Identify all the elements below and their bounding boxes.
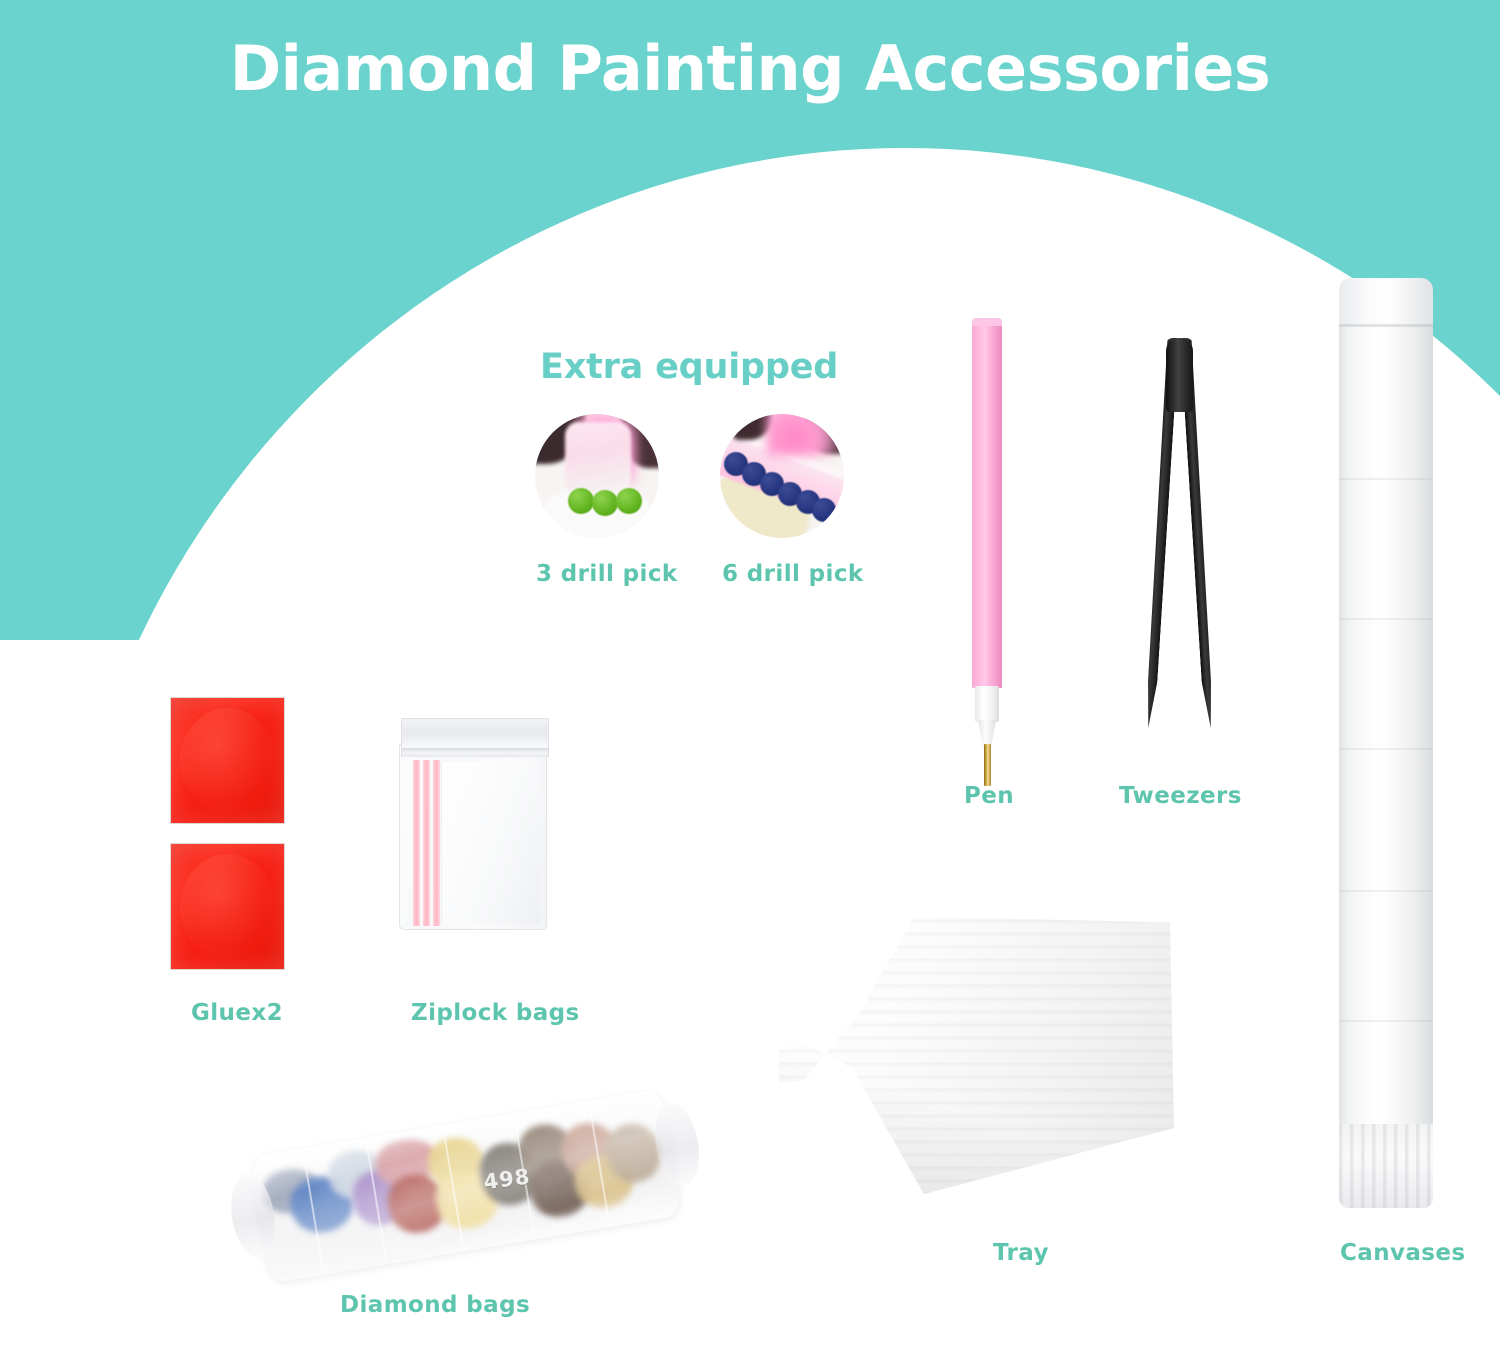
tweezers-image bbox=[1140, 338, 1210, 758]
pen-image bbox=[966, 318, 1010, 768]
tweezers-label: Tweezers bbox=[1119, 783, 1242, 809]
glue-label: Gluex2 bbox=[191, 1000, 283, 1026]
diamond-bags-label: Diamond bags bbox=[340, 1292, 530, 1318]
ziplock-bags-image bbox=[395, 718, 550, 930]
drill-pick-6-photo bbox=[720, 414, 844, 538]
pen-label: Pen bbox=[964, 783, 1014, 809]
glue-square-1 bbox=[170, 697, 285, 824]
drill-pick-3-label: 3 drill pick bbox=[536, 561, 678, 587]
drill-pick-3-photo bbox=[535, 414, 659, 538]
glue-square-2 bbox=[170, 843, 285, 970]
drill-pick-6-label: 6 drill pick bbox=[722, 561, 864, 587]
ziplock-bags-label: Ziplock bags bbox=[411, 1000, 580, 1026]
page-title: Diamond Painting Accessories bbox=[0, 36, 1500, 101]
tray-image bbox=[776, 912, 1176, 1212]
canvas-roll-image bbox=[1339, 278, 1433, 1208]
infographic-page: Diamond Painting Accessories Extra equip… bbox=[0, 0, 1500, 1346]
extra-equipped-heading: Extra equipped bbox=[540, 347, 838, 387]
canvases-label: Canvases bbox=[1340, 1240, 1465, 1266]
tray-label: Tray bbox=[993, 1240, 1049, 1266]
